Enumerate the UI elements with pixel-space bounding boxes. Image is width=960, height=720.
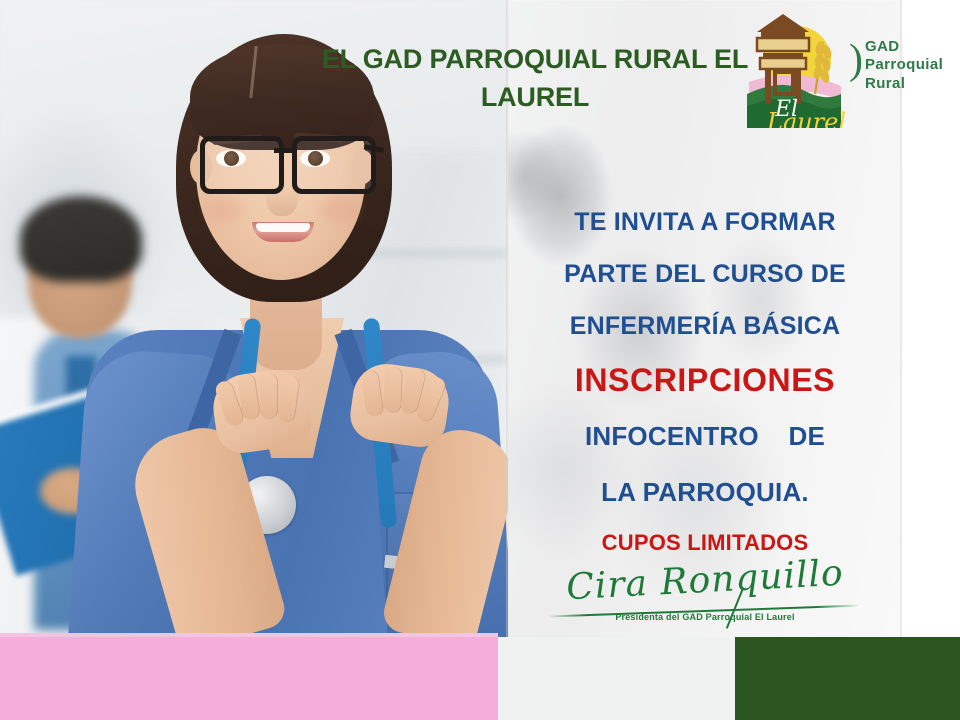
invitation-message: TE INVITA A FORMAR PARTE DEL CURSO DE EN… [504, 196, 906, 566]
nurse-left-cheek [204, 196, 244, 222]
message-line-6: LA PARROQUIA. [504, 464, 906, 520]
logo-divider-paren: ) [849, 36, 863, 84]
teeth [256, 223, 310, 232]
background-doctor-hair [20, 196, 142, 282]
logo-wordmark-line3: Rural [865, 75, 943, 93]
left-lens [200, 136, 284, 194]
message-line-3: ENFERMERÍA BÁSICA [504, 300, 906, 352]
bottom-bar-white [498, 637, 735, 720]
finger [260, 373, 278, 419]
eyeglasses-icon [196, 136, 372, 194]
finger [360, 369, 384, 417]
logo-wordmark-line1: GAD [865, 38, 943, 56]
poster-canvas: EL GAD PARROQUIAL RURAL EL LAUREL [0, 0, 960, 720]
logo-wordmark-line2: Parroquial [865, 56, 943, 74]
message-line-2: PARTE DEL CURSO DE [504, 248, 906, 300]
glasses-bridge [274, 148, 294, 153]
nurse-right-cheek [320, 196, 360, 222]
signature-role: Presidenta del GAD Parroquial El Laurel [540, 612, 870, 622]
message-line-5: INFOCENTRO DE [504, 408, 906, 464]
message-line-1: TE INVITA A FORMAR [504, 196, 906, 248]
bottom-bar-green [735, 637, 960, 720]
bottom-bar-pink [0, 637, 498, 720]
logo-wordmark: GAD Parroquial Rural [865, 38, 943, 93]
svg-text:Laurel: Laurel [766, 108, 845, 128]
signature-name: Cira Ronquillo [539, 551, 871, 609]
poster-headline: EL GAD PARROQUIAL RURAL EL LAUREL [300, 40, 770, 117]
signature-block: Cira Ronquillo Presidenta del GAD Parroq… [540, 560, 870, 640]
el-laurel-emblem-icon: El Laurel [741, 8, 845, 128]
finger [277, 375, 301, 423]
inscriptions-heading: INSCRIPCIONES [504, 352, 906, 408]
gad-parroquial-logo: El Laurel ) GAD Parroquial Rural [741, 8, 911, 128]
